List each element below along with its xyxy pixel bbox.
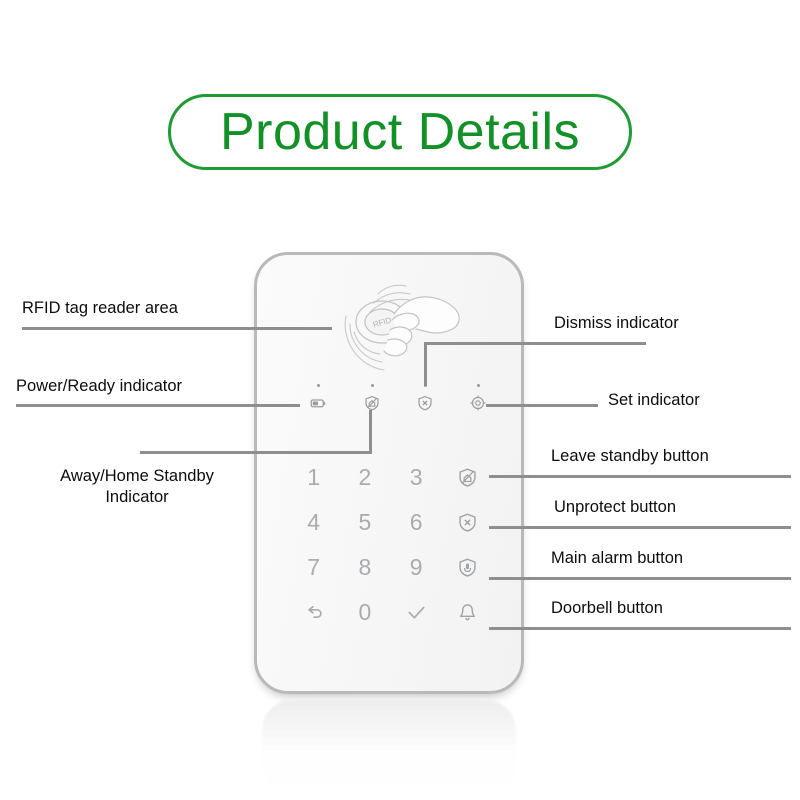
callout-rfid-tag-reader-area: RFID tag reader area <box>22 298 178 319</box>
key-1[interactable]: 1 <box>288 455 339 500</box>
back-arrow-icon <box>303 602 325 624</box>
shield-home-icon <box>457 467 478 488</box>
key-main-alarm[interactable] <box>442 545 493 590</box>
key-unprotect[interactable] <box>442 500 493 545</box>
check-icon <box>405 601 428 624</box>
callout-leave-standby-button: Leave standby button <box>551 446 709 467</box>
device-reflection <box>262 700 516 796</box>
callout-doorbell-button: Doorbell button <box>551 598 663 619</box>
leader-rfid-tag-reader-area <box>22 327 332 330</box>
leader-unprotect-button <box>489 526 791 529</box>
key-9[interactable]: 9 <box>391 545 442 590</box>
leader-away-home-standby-vertical <box>369 410 372 454</box>
callout-set-indicator: Set indicator <box>608 390 700 411</box>
leader-set-indicator <box>486 404 598 407</box>
leader-main-alarm-button <box>489 577 791 580</box>
leader-doorbell-button <box>489 627 791 630</box>
callout-away-home-standby-line2: Indicator <box>105 488 168 506</box>
key-back[interactable] <box>288 590 339 635</box>
shield-alarm-icon <box>457 557 478 578</box>
key-3[interactable]: 3 <box>391 455 442 500</box>
key-5[interactable]: 5 <box>339 500 390 545</box>
leader-dismiss-indicator-vertical <box>424 342 427 386</box>
key-doorbell[interactable] <box>442 590 493 635</box>
led-dot <box>371 384 374 387</box>
shield-x-icon <box>457 512 478 533</box>
key-0[interactable]: 0 <box>339 590 390 635</box>
leader-power-ready-indicator <box>16 404 300 407</box>
indicator-away-home-standby <box>357 378 387 412</box>
callout-main-alarm-button: Main alarm button <box>551 548 683 569</box>
callout-unprotect-button: Unprotect button <box>554 497 676 518</box>
leader-away-home-standby-horizontal <box>140 451 372 454</box>
rfid-reader-artwork: RFID <box>320 270 470 380</box>
leader-dismiss-indicator-horizontal <box>424 342 646 345</box>
bell-icon <box>457 602 478 623</box>
callout-away-home-standby: Away/Home Standby Indicator <box>28 466 246 507</box>
battery-icon <box>309 394 327 412</box>
key-8[interactable]: 8 <box>339 545 390 590</box>
key-6[interactable]: 6 <box>391 500 442 545</box>
key-leave-standby[interactable] <box>442 455 493 500</box>
key-2[interactable]: 2 <box>339 455 390 500</box>
gear-icon <box>469 394 487 412</box>
keypad-grid: 1 2 3 4 5 6 7 8 9 <box>288 455 493 635</box>
key-4[interactable]: 4 <box>288 500 339 545</box>
led-dot <box>317 384 320 387</box>
key-confirm[interactable] <box>391 590 442 635</box>
callout-away-home-standby-line1: Away/Home Standby <box>60 467 214 485</box>
indicator-power-ready <box>303 378 333 412</box>
page-title: Product Details <box>168 94 632 170</box>
key-7[interactable]: 7 <box>288 545 339 590</box>
leader-leave-standby-button <box>489 475 791 478</box>
led-dot <box>477 384 480 387</box>
callout-dismiss-indicator: Dismiss indicator <box>554 313 679 334</box>
shield-x-icon <box>416 394 434 412</box>
callout-power-ready-indicator: Power/Ready indicator <box>16 376 182 397</box>
shield-home-icon <box>363 394 381 412</box>
product-details-page: Product Details RFID <box>0 0 800 800</box>
